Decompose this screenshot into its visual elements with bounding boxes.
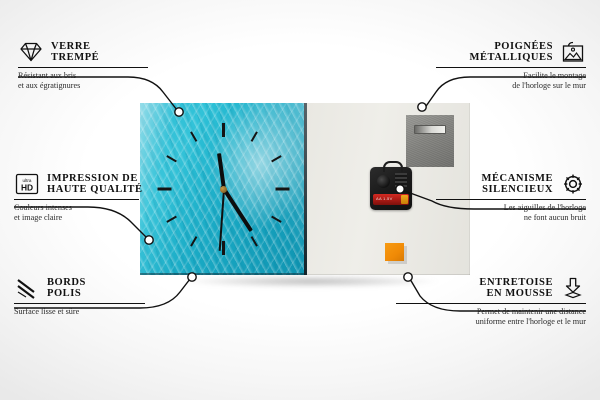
callout-rule [18, 67, 148, 68]
diamond-icon [18, 40, 44, 64]
clock-tick [276, 188, 290, 191]
callout-subtitle: Résistant aux bris et aux égratignures [18, 71, 158, 91]
foam-spacer-arrow-icon [560, 276, 586, 300]
clock-tick [222, 123, 225, 137]
callout-rule [436, 199, 586, 200]
clock-tick [158, 188, 172, 191]
callout-impression-hd: ultra HD IMPRESSION DE HAUTE QUALITÉ Cou… [14, 172, 154, 223]
callout-title: BORDS POLIS [47, 277, 86, 300]
clock-tick [271, 216, 282, 223]
product-image: AA 1.5V [140, 103, 470, 278]
callout-verre-trempe: VERRE TREMPÉ Résistant aux bris et aux é… [18, 40, 158, 91]
svg-text:HD: HD [21, 182, 33, 192]
callout-subtitle: Couleurs intenses et image claire [14, 203, 154, 223]
mechanism-shaft [377, 175, 390, 188]
clock-center-cap [220, 186, 227, 193]
callout-bords-polis: BORDS POLIS Surface lisse et sûre [14, 276, 154, 317]
callout-rule [436, 67, 586, 68]
callout-rule [14, 303, 145, 304]
foam-spacer [385, 243, 404, 261]
polished-edges-icon [14, 276, 40, 300]
clock-front-panel [140, 103, 307, 275]
clock-tick [166, 216, 177, 223]
callout-subtitle: Surface lisse et sûre [14, 307, 154, 317]
callout-mecanisme-silencieux: MÉCANISME SILENCIEUX Les aiguilles de l'… [436, 172, 586, 223]
callout-subtitle: Permet de maintenir une distance uniform… [396, 307, 586, 327]
callout-subtitle: Facilite le montage de l'horloge sur le … [436, 71, 586, 91]
mechanism-hanging-loop [383, 161, 403, 172]
clock-tick [190, 236, 197, 247]
gear-icon [560, 172, 586, 196]
callout-subtitle: Les aiguilles de l'horloge ne font aucun… [436, 203, 586, 223]
callout-title: MÉCANISME SILENCIEUX [482, 173, 553, 196]
picture-hanger-icon [560, 40, 586, 64]
clock-tick [222, 241, 225, 255]
callout-title: ENTRETOISE EN MOUSSE [479, 277, 553, 300]
callout-title: VERRE TREMPÉ [51, 41, 99, 64]
callout-rule [14, 199, 139, 200]
clock-tick [271, 155, 282, 162]
clock-tick [250, 131, 257, 142]
mechanism-grill [395, 173, 407, 187]
hanger-slot [414, 125, 446, 134]
clock-tick [190, 131, 197, 142]
callout-poignees-metalliques: POIGNÉES MÉTALLIQUES Facilite le montage… [436, 40, 586, 91]
ultra-hd-icon: ultra HD [14, 172, 40, 196]
metal-hanger-plate [406, 115, 454, 167]
callout-entretoise-mousse: ENTRETOISE EN MOUSSE Permet de maintenir… [396, 276, 586, 327]
infographic-canvas: AA 1.5V [0, 0, 600, 400]
callout-title: POIGNÉES MÉTALLIQUES [470, 41, 553, 64]
clock-tick [166, 155, 177, 162]
callout-rule [396, 303, 586, 304]
clock-mechanism: AA 1.5V [370, 167, 412, 210]
clock-face [143, 106, 304, 272]
battery: AA 1.5V [373, 194, 409, 205]
clock-tick [250, 236, 257, 247]
battery-label: AA 1.5V [376, 196, 393, 201]
battery-positive-cap [401, 195, 408, 204]
callout-title: IMPRESSION DE HAUTE QUALITÉ [47, 173, 143, 196]
